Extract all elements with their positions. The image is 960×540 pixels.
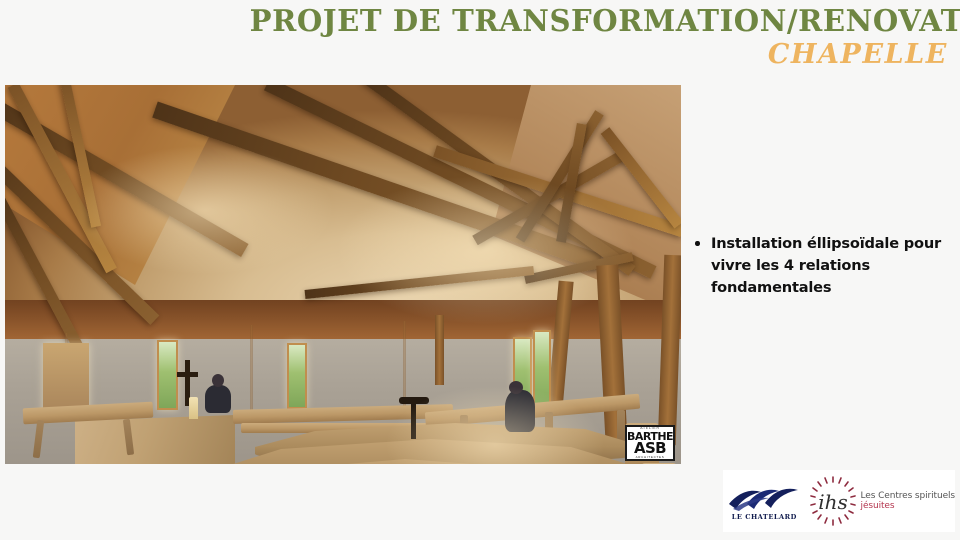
cross [177,372,198,377]
bullet-dot-icon [695,241,700,246]
lectern-top [399,397,429,404]
window [533,330,551,412]
logo-jesuites-line2: jésuites [861,501,955,511]
bullet-list: Installation éllipsoïdale pour vivre les… [694,233,942,300]
page-subtitle: CHAPELLE [228,40,948,70]
doorway [43,343,89,415]
logo-bar: LE CHATELARD [723,470,955,532]
logo-jesuites-text: Les Centres spirituels jésuites [861,491,955,511]
wall-panel-joint [250,325,253,415]
logo-jesuites-line1: Les Centres spirituels [861,491,955,501]
lectern-stand [411,403,416,439]
window [287,343,307,409]
architect-watermark: ATELIER BARTHE ASB ARCHITECTES [625,425,675,461]
waves-icon [727,482,801,512]
person-head [509,381,523,394]
watermark-sub-text: ASB [634,441,666,456]
svg-text:ihs: ihs [818,490,848,514]
logo-le-chatelard: LE CHATELARD [723,470,806,532]
page-title: PROJET DE TRANSFORMATION/RENOVATION [250,6,948,38]
ihs-monogram-icon: ihs [808,475,858,527]
window [157,340,178,410]
title-block: PROJET DE TRANSFORMATION/RENOVATION CHAP… [228,6,948,70]
seated-person [205,385,231,413]
seated-person [505,390,535,432]
person-head [212,374,224,387]
logo-centres-spirituels-jesuites: ihs Les Centres spirituels jésuites [806,470,955,532]
list-item: Installation éllipsoïdale pour vivre les… [694,233,942,300]
render-scene: ATELIER BARTHE ASB ARCHITECTES [5,85,681,464]
watermark-bottom-text: ARCHITECTES [636,456,665,459]
logo-le-chatelard-label: LE CHATELARD [732,513,797,521]
sun-rays-icon: ihs [808,475,858,527]
stool [641,463,677,464]
chapel-render-image: ATELIER BARTHE ASB ARCHITECTES [5,85,681,464]
slide-canvas: PROJET DE TRANSFORMATION/RENOVATION CHAP… [0,0,960,540]
bench-leg [617,410,625,444]
timber-post [435,315,444,385]
central-altar-block [75,415,235,464]
candle [189,397,198,419]
list-item-label: Installation éllipsoïdale pour vivre les… [711,235,941,296]
